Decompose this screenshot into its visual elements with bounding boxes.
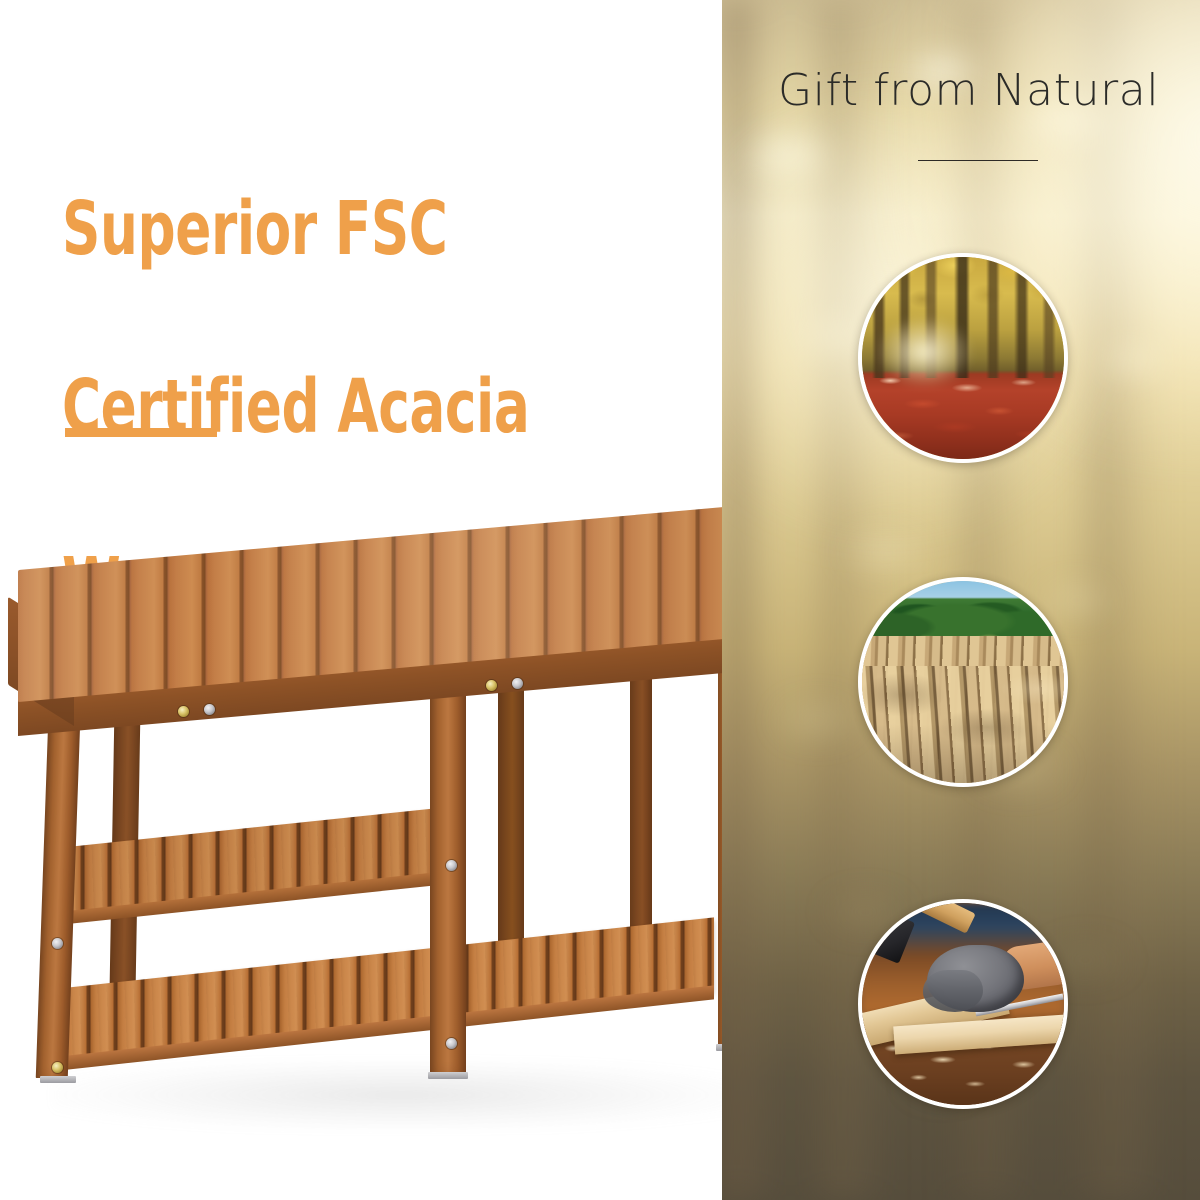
woodworking-art (862, 903, 1064, 1105)
screw-head (446, 860, 457, 871)
product-bench (0, 560, 840, 1180)
autumn-leaf-carpet-texture (862, 370, 1064, 459)
screw-head (486, 680, 497, 691)
screw-head (446, 1038, 457, 1049)
headline-line-2: Certified Acacia (62, 363, 558, 452)
panel-heading: Gift from Natural (778, 64, 1188, 118)
bench-leg-front-middle (430, 688, 466, 1074)
autumn-forest-art (862, 257, 1064, 459)
accent-divider (65, 428, 217, 437)
circle-photo-autumn-forest (858, 253, 1068, 463)
work-glove-fingers (923, 970, 984, 1012)
screw-head (204, 704, 215, 715)
circle-photo-woodworking (858, 899, 1068, 1109)
bench-floor-shadow (52, 1060, 752, 1130)
panel-heading-divider (918, 160, 1038, 161)
wood-grain-overlay (64, 917, 714, 1062)
headline-line-1: Superior FSC (62, 185, 558, 274)
timber-shading (862, 636, 1064, 783)
bench-foot-pad-left (40, 1076, 76, 1083)
bench-bottom-shelf (64, 917, 714, 1062)
screw-head (52, 1062, 63, 1073)
circle-photo-timber-stacks (858, 577, 1068, 787)
right-photo-panel: Gift from Natural (722, 0, 1200, 1200)
screw-head (52, 938, 63, 949)
screw-head (178, 706, 189, 717)
bench-foot-pad-middle (428, 1072, 468, 1079)
screw-head (512, 678, 523, 689)
timber-yard-art (862, 581, 1064, 783)
promo-graphic: Superior FSC Certified Acacia Wood Mater… (0, 0, 1200, 1200)
timber-green-hills (862, 593, 1064, 641)
